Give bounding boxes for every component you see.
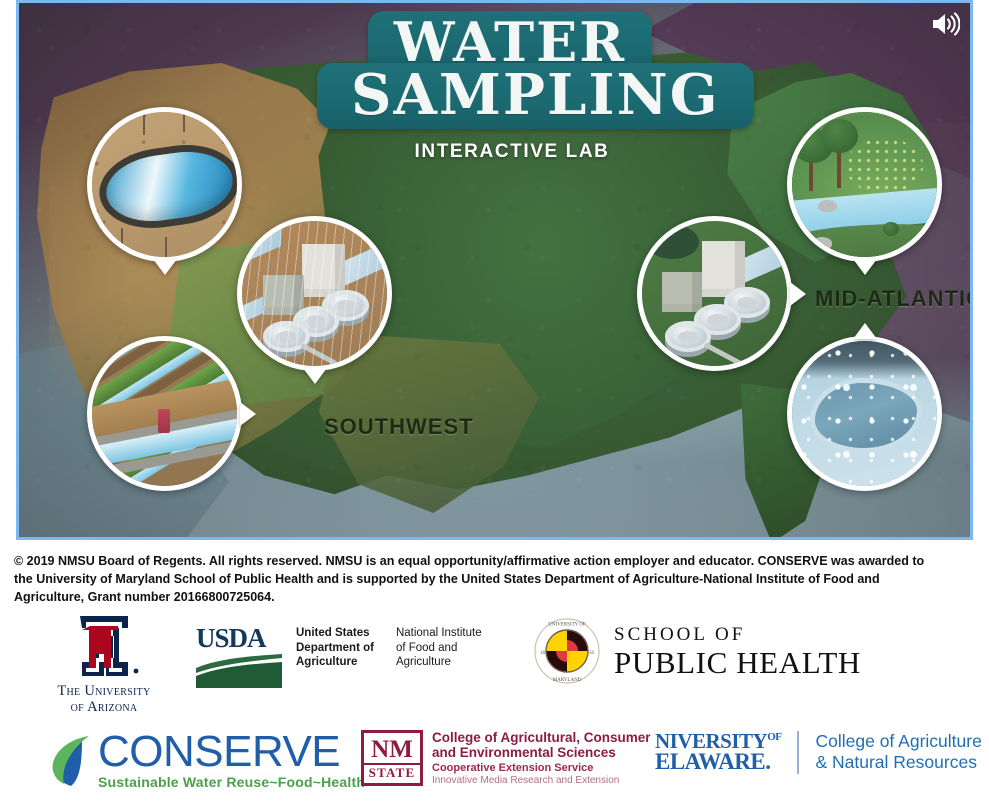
hotspot-pointer xyxy=(303,368,327,384)
region-label-southwest[interactable]: SOUTHWEST xyxy=(324,414,474,440)
nifa-line-3: Agriculture xyxy=(396,655,482,670)
umd-logo-line-2: PUBLIC HEALTH xyxy=(614,647,861,678)
ud-mark-line-2: ELAWARE. xyxy=(655,751,781,772)
umd-logo-line-1: SCHOOL OF xyxy=(614,625,861,644)
hotspot-pointer xyxy=(790,282,806,306)
conserve-leaf-droplet-icon xyxy=(48,734,94,786)
hotspot-pointer xyxy=(853,323,877,339)
university-of-delaware-logo: NIVERSITYOF ELAWARE. College of Agricult… xyxy=(655,731,982,774)
title-line-1: WATER xyxy=(394,15,626,69)
maryland-seal-icon: UNIVERSITY OF MARYLAND 18 56 xyxy=(534,618,600,684)
hotspot-pointer xyxy=(240,402,256,426)
usda-wordmark: USDA xyxy=(196,626,282,652)
hotspot-retention-pond[interactable] xyxy=(87,107,242,262)
hotspot-winter-pond[interactable] xyxy=(787,336,942,491)
conserve-wordmark: CONSERVE xyxy=(98,730,365,774)
svg-text:56: 56 xyxy=(589,651,595,656)
speaker-icon[interactable] xyxy=(930,11,960,37)
svg-text:MARYLAND: MARYLAND xyxy=(553,678,582,683)
university-of-arizona-logo: The University of Arizona xyxy=(52,614,156,715)
svg-text:18: 18 xyxy=(540,651,546,656)
nmsu-logo-line-4: Innovative Media Research and Extension xyxy=(432,775,651,786)
ud-logo-line-1: College of Agriculture xyxy=(815,731,981,752)
nmsu-mark-line-1: NM xyxy=(371,737,413,762)
arizona-logo-line-1: The University xyxy=(52,683,156,699)
ud-mark-of: OF xyxy=(767,731,781,743)
arizona-block-a-icon xyxy=(66,614,142,678)
hotspot-pointer xyxy=(153,259,177,275)
title-line-2: SAMPLING xyxy=(351,67,720,123)
nifa-line-1: National Institute xyxy=(396,626,482,641)
ud-logo-divider xyxy=(797,731,799,774)
copyright-text: © 2019 NMSU Board of Regents. All rights… xyxy=(14,552,944,606)
river-landscape-icon xyxy=(787,107,942,262)
snow-pond-icon xyxy=(787,336,942,491)
hotspot-irrigation-canal[interactable] xyxy=(87,336,242,491)
nmsu-logo-line-2: and Environmental Sciences xyxy=(432,745,651,760)
ud-wordmark-icon: NIVERSITYOF ELAWARE. xyxy=(655,732,781,772)
water-treatment-plant-icon xyxy=(237,216,392,371)
title-plaque-bottom: SAMPLING xyxy=(317,63,754,129)
hotspot-river-stream[interactable] xyxy=(787,107,942,262)
conserve-logo: CONSERVE Sustainable Water Reuse~Food~He… xyxy=(48,730,365,789)
usda-line-3: Agriculture xyxy=(296,655,374,670)
nmsu-logo-line-3: Cooperative Extension Service xyxy=(432,762,651,774)
hotspot-treatment-plant-mid-atlantic[interactable] xyxy=(637,216,792,371)
usda-line-2: Department of xyxy=(296,641,374,656)
irrigation-canal-icon xyxy=(87,336,242,491)
nmsu-logo-line-1: College of Agricultural, Consumer xyxy=(432,730,651,745)
subtitle: INTERACTIVE LAB xyxy=(317,141,707,163)
region-label-mid-atlantic[interactable]: MID-ATLANTIC xyxy=(815,286,970,312)
arizona-logo-line-2: of Arizona xyxy=(52,699,156,715)
umd-school-of-public-health-logo: UNIVERSITY OF MARYLAND 18 56 SCHOOL OF P… xyxy=(534,618,861,684)
nifa-line-2: of Food and xyxy=(396,641,482,656)
hotspot-treatment-plant-southwest[interactable] xyxy=(237,216,392,371)
nmsu-block-mark-icon: NM STATE xyxy=(361,730,423,786)
usda-swoosh-icon xyxy=(196,654,282,688)
usda-nifa-logo: USDA United States Department of Agricul… xyxy=(196,626,482,688)
water-treatment-plant-icon xyxy=(637,216,792,371)
svg-text:UNIVERSITY OF: UNIVERSITY OF xyxy=(548,623,586,628)
interactive-map-stage[interactable]: WATER SAMPLING INTERACTIVE LAB xyxy=(16,0,973,540)
nmsu-aces-logo: NM STATE College of Agricultural, Consum… xyxy=(361,730,651,786)
ud-logo-line-2: & Natural Resources xyxy=(815,752,981,773)
nmsu-mark-line-2: STATE xyxy=(364,763,420,779)
title-block: WATER SAMPLING INTERACTIVE LAB xyxy=(317,11,707,163)
retention-pond-icon xyxy=(87,107,242,262)
usda-line-1: United States xyxy=(296,626,374,641)
hotspot-pointer xyxy=(853,259,877,275)
conserve-tagline: Sustainable Water Reuse~Food~Health xyxy=(98,775,365,789)
